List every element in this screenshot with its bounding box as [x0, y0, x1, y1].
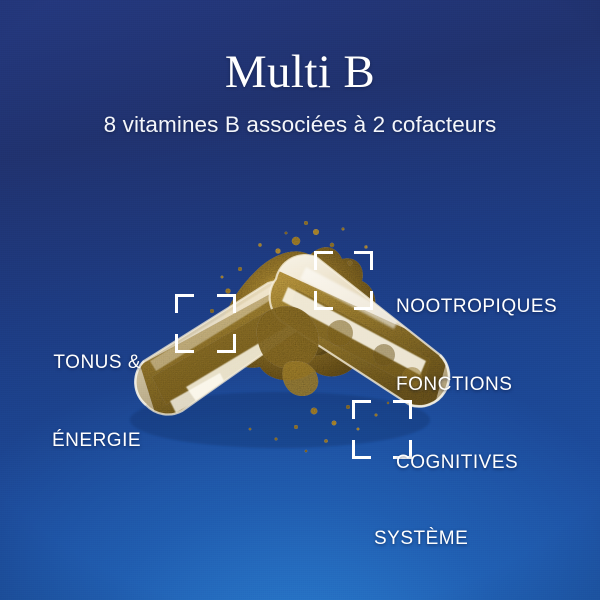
callout-line: NOOTROPIQUES — [396, 294, 557, 320]
callout-label-systeme-immunitaire: SYSTÈME IMMUNITAIRE — [374, 474, 504, 600]
callout-label-tonus-energie: TONUS & ÉNERGIE — [52, 298, 141, 506]
bracket-corner-bottom-left — [175, 334, 194, 353]
bracket-corner-top-left — [314, 251, 333, 270]
powder-spill — [257, 306, 319, 396]
callout-line: TONUS & — [52, 350, 141, 376]
bracket-corner-bottom-right — [354, 291, 373, 310]
callout-line: SYSTÈME — [374, 526, 504, 552]
bracket-corner-top-right — [354, 251, 373, 270]
bracket-corner-bottom-left — [314, 291, 333, 310]
bracket-corner-top-right — [217, 294, 236, 313]
page-subtitle: 8 vitamines B associées à 2 cofacteurs — [0, 111, 600, 138]
product-hero-banner: Multi B 8 vitamines B associées à 2 cofa… — [0, 0, 600, 600]
callout-line: FONCTIONS — [396, 372, 557, 398]
page-title: Multi B — [0, 47, 600, 98]
bracket-corner-top-left — [175, 294, 194, 313]
bracket-corner-top-left — [352, 400, 371, 419]
bracket-corner-bottom-right — [217, 334, 236, 353]
callout-line: ÉNERGIE — [52, 428, 141, 454]
reticle-nootropiques — [314, 251, 373, 310]
callout-line: COGNITIVES — [396, 450, 557, 476]
reticle-tonus-energie — [175, 294, 236, 353]
bracket-corner-bottom-left — [352, 440, 371, 459]
